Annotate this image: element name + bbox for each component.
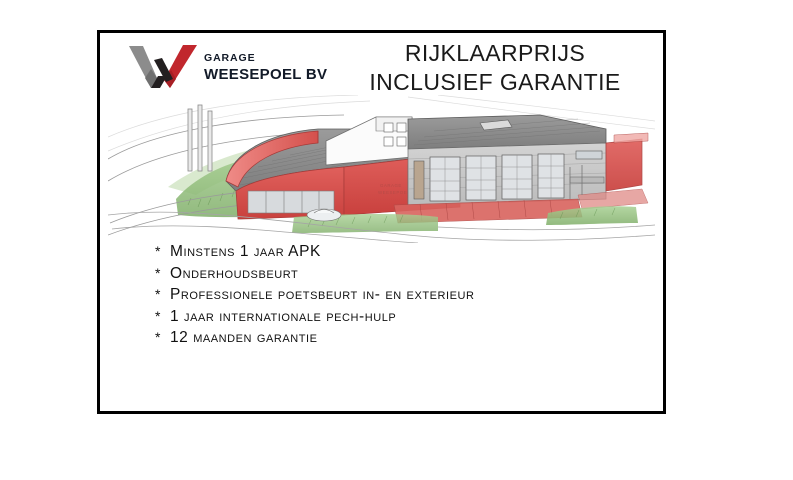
list-item: * 12 maanden garantie [155, 327, 655, 349]
list-item: * Onderhoudsbeurt [155, 263, 655, 285]
benefit-text: Onderhoudsbeurt [170, 263, 298, 285]
poster-frame: GARAGE WEESEPOEL BV RIJKLAARPRIJS INCLUS… [97, 30, 666, 414]
list-item: * Minstens 1 jaar APK [155, 241, 655, 263]
poster-headline: RIJKLAARPRIJS INCLUSIEF GARANTIE [340, 39, 650, 98]
benefit-text: 12 maanden garantie [170, 327, 318, 349]
list-item: * 1 jaar internationale pech-hulp [155, 306, 655, 328]
brand-logo-text: GARAGE WEESEPOEL BV [204, 53, 327, 82]
bullet-star: * [155, 263, 170, 285]
facade-sign-line1: GARAGE [380, 183, 402, 188]
brand-logo-line2: WEESEPOEL BV [204, 67, 327, 82]
brand-logo-line1: GARAGE [204, 53, 327, 64]
benefits-list: * Minstens 1 jaar APK * Onderhoudsbeurt … [155, 241, 655, 349]
garage-building-pencil-sketch: GARAGE WEESEPOEL [108, 95, 655, 243]
facade-sign-line2: WEESEPOEL [378, 190, 410, 195]
brand-logo: GARAGE WEESEPOEL BV [128, 43, 328, 98]
benefit-text: Minstens 1 jaar APK [170, 241, 321, 263]
bullet-star: * [155, 306, 170, 328]
headline-line-2: INCLUSIEF GARANTIE [340, 68, 650, 97]
garage-w-mark-icon [128, 43, 198, 89]
bullet-star: * [155, 327, 170, 349]
headline-line-1: RIJKLAARPRIJS [340, 39, 650, 68]
benefit-text: Professionele poetsbeurt in- en exterieu… [170, 284, 474, 306]
poster-canvas: GARAGE WEESEPOEL BV RIJKLAARPRIJS INCLUS… [100, 33, 663, 411]
benefit-text: 1 jaar internationale pech-hulp [170, 306, 396, 328]
bullet-star: * [155, 284, 170, 306]
bullet-star: * [155, 241, 170, 263]
list-item: * Professionele poetsbeurt in- en exteri… [155, 284, 655, 306]
